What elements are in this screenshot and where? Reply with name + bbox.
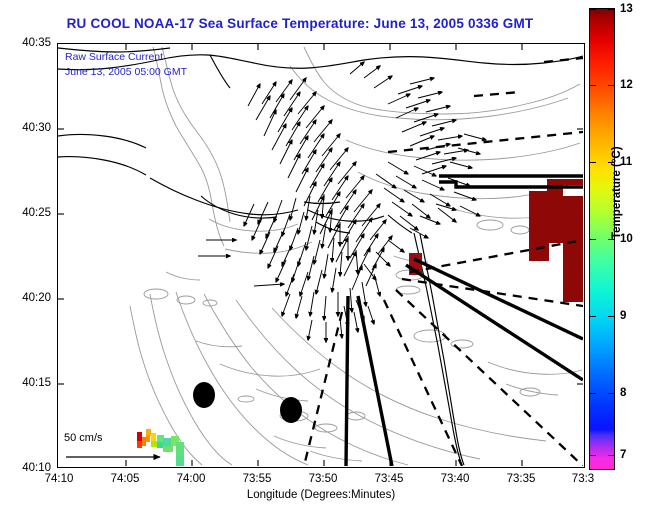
annotation-line-1: Raw Surface Current	[65, 51, 163, 63]
x-tick-label-0: 74:10	[45, 473, 74, 485]
x-tick-label-1: 74:05	[111, 473, 140, 485]
colorbar-tick-3	[589, 239, 596, 240]
annotation-line-2: June 13, 2005 05:00 GMT	[65, 66, 187, 78]
colorbar-label-4: 9	[620, 310, 626, 322]
page-title: RU COOL NOAA-17 Sea Surface Temperature:…	[0, 16, 600, 31]
vector-scale-legend: 50 cm/s	[64, 432, 174, 468]
colorbar-label-1: 12	[620, 79, 633, 91]
x-tick-label-4: 73:50	[309, 473, 338, 485]
colorbar-tick-r6	[608, 455, 615, 456]
colorbar-tick-4	[589, 316, 596, 317]
colorbar-label-5: 8	[620, 387, 626, 399]
colorbar-tick-2	[589, 162, 596, 163]
x-axis-title: Longitude (Degrees:Minutes)	[247, 489, 395, 501]
vector-scale-label: 50 cm/s	[64, 432, 174, 444]
x-tick-label-5: 73:45	[375, 473, 404, 485]
colorbar-tick-6	[589, 455, 596, 456]
y-tick-label-3: 40:20	[6, 292, 51, 304]
x-tick-label-3: 73:55	[243, 473, 272, 485]
colorbar-tick-r4	[608, 316, 615, 317]
colorbar-label-6: 7	[620, 449, 626, 461]
current-vector-field	[198, 62, 486, 342]
colorbar-tick-r5	[608, 393, 615, 394]
colorbar-tick-5	[589, 393, 596, 394]
colorbar-title: Temperature (°C)	[611, 146, 623, 239]
vector-scale-arrow-icon	[64, 444, 174, 468]
colorbar-tick-r1	[608, 85, 615, 86]
colorbar-tick-r0	[608, 9, 615, 10]
colorbar-tick-r3	[608, 239, 615, 240]
colorbar-tick-1	[589, 85, 596, 86]
axis-ticks	[58, 44, 583, 466]
y-tick-label-0: 40:35	[6, 37, 51, 49]
x-tick-label-8: 73:3	[572, 473, 594, 485]
y-tick-label-1: 40:30	[6, 122, 51, 134]
y-tick-label-4: 40:15	[6, 377, 51, 389]
colorbar-label-0: 13	[620, 3, 633, 15]
map-graphic	[58, 44, 583, 466]
figure-canvas: RU COOL NOAA-17 Sea Surface Temperature:…	[0, 0, 651, 515]
colorbar-tick-0	[589, 9, 596, 10]
y-tick-label-2: 40:25	[6, 207, 51, 219]
map-plot-area[interactable]: Raw Surface Current June 13, 2005 05:00 …	[57, 43, 585, 468]
x-tick-label-2: 74:00	[177, 473, 206, 485]
x-tick-label-6: 73:40	[441, 473, 470, 485]
x-tick-label-7: 73:35	[507, 473, 536, 485]
